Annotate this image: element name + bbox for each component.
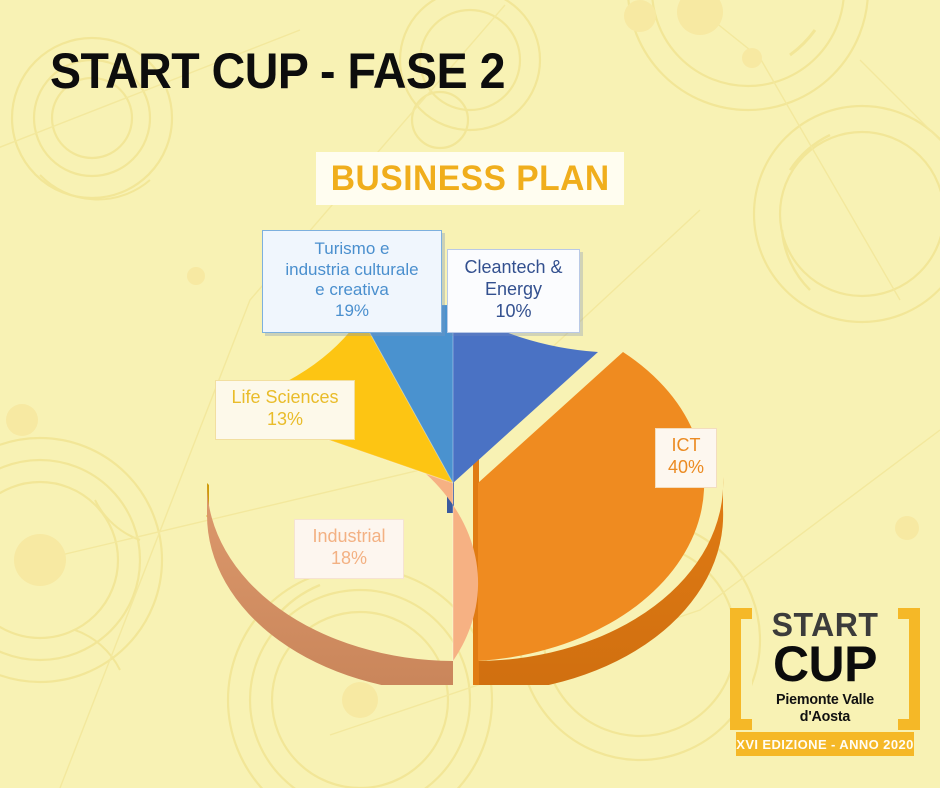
data-label-cleantech: Cleantech & Energy 10% — [447, 249, 580, 333]
bracket-right-notch — [898, 619, 909, 719]
data-label-life-percent: 13% — [220, 409, 350, 431]
data-label-turismo-line1: Turismo e — [269, 239, 435, 260]
logo-text: START CUP Piemonte Valle d'Aosta — [751, 608, 899, 725]
chart-title-box: BUSINESS PLAN — [316, 152, 624, 205]
data-label-ict: ICT 40% — [655, 428, 717, 488]
data-label-ict-line1: ICT — [660, 435, 712, 457]
slice-side-industrial — [207, 483, 453, 685]
data-label-turismo-line2: industria culturale — [269, 260, 435, 281]
data-label-industrial-percent: 18% — [299, 548, 399, 570]
logo-inner: START CUP Piemonte Valle d'Aosta XVI EDI… — [730, 608, 920, 760]
logo-word-cup: CUP — [751, 640, 899, 688]
start-cup-logo: START CUP Piemonte Valle d'Aosta XVI EDI… — [730, 608, 920, 760]
data-label-life-line1: Life Sciences — [220, 387, 350, 409]
chart-title: BUSINESS PLAN — [331, 159, 610, 199]
data-label-industrial: Industrial 18% — [294, 519, 404, 579]
data-label-turismo-line3: e creativa — [269, 280, 435, 301]
bracket-left-icon — [730, 608, 752, 730]
logo-word-start: START — [753, 608, 897, 642]
logo-region: Piemonte Valle d'Aosta — [755, 691, 896, 725]
logo-edition-band: XVI EDIZIONE - ANNO 2020 — [736, 732, 914, 756]
data-label-cleantech-line2: Energy — [453, 279, 574, 301]
data-label-industrial-line1: Industrial — [299, 526, 399, 548]
data-label-ict-percent: 40% — [660, 457, 712, 479]
data-label-turismo: Turismo e industria culturale e creativa… — [262, 230, 442, 333]
data-label-cleantech-percent: 10% — [453, 301, 574, 323]
bracket-right-icon — [898, 608, 920, 730]
page-title: START CUP - FASE 2 — [50, 42, 505, 100]
data-label-cleantech-line1: Cleantech & — [453, 257, 574, 279]
data-label-life-sciences: Life Sciences 13% — [215, 380, 355, 440]
poster-canvas: START CUP - FASE 2 BUSINESS PLAN — [0, 0, 940, 788]
data-label-turismo-percent: 19% — [269, 301, 435, 322]
